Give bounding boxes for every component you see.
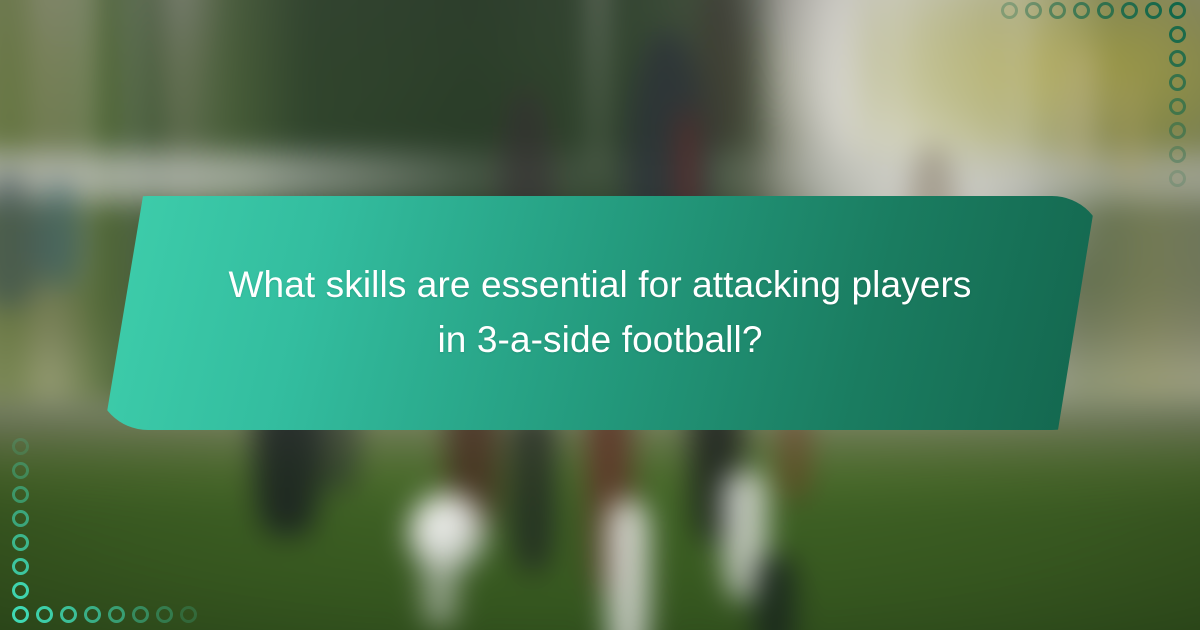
decor-dot [1169, 170, 1186, 187]
decor-dots-left-column [12, 438, 29, 599]
decor-dot [1169, 74, 1186, 91]
decor-dot [12, 606, 29, 623]
decor-dot [1049, 2, 1066, 19]
decor-dot [1169, 146, 1186, 163]
decor-dot [1025, 2, 1042, 19]
decor-dot [12, 438, 29, 455]
decor-dot [1169, 98, 1186, 115]
decor-dot [12, 558, 29, 575]
decor-dot [12, 510, 29, 527]
decor-dot [1169, 26, 1186, 43]
decor-dot [60, 606, 77, 623]
decor-dots-bottom-left-row [12, 606, 197, 623]
decor-dot [1169, 50, 1186, 67]
question-text: What skills are essential for attacking … [216, 258, 984, 368]
decor-dot [1169, 2, 1186, 19]
decor-dot [12, 582, 29, 599]
question-card-stage: What skills are essential for attacking … [0, 0, 1200, 630]
decor-dot [108, 606, 125, 623]
decor-dot [12, 462, 29, 479]
decor-dot [36, 606, 53, 623]
decor-dots-top-right-row [1001, 2, 1186, 19]
decor-dot [12, 534, 29, 551]
decor-dot [1121, 2, 1138, 19]
decor-dot [1145, 2, 1162, 19]
decor-dot [1169, 122, 1186, 139]
decor-dot [84, 606, 101, 623]
question-card: What skills are essential for attacking … [96, 196, 1104, 430]
decor-dot [180, 606, 197, 623]
decor-dot [1097, 2, 1114, 19]
decor-dot [1073, 2, 1090, 19]
decor-dots-right-column [1169, 26, 1186, 187]
decor-dot [1001, 2, 1018, 19]
decor-dot [156, 606, 173, 623]
decor-dot [12, 486, 29, 503]
decor-dot [132, 606, 149, 623]
question-card-content: What skills are essential for attacking … [96, 196, 1104, 430]
